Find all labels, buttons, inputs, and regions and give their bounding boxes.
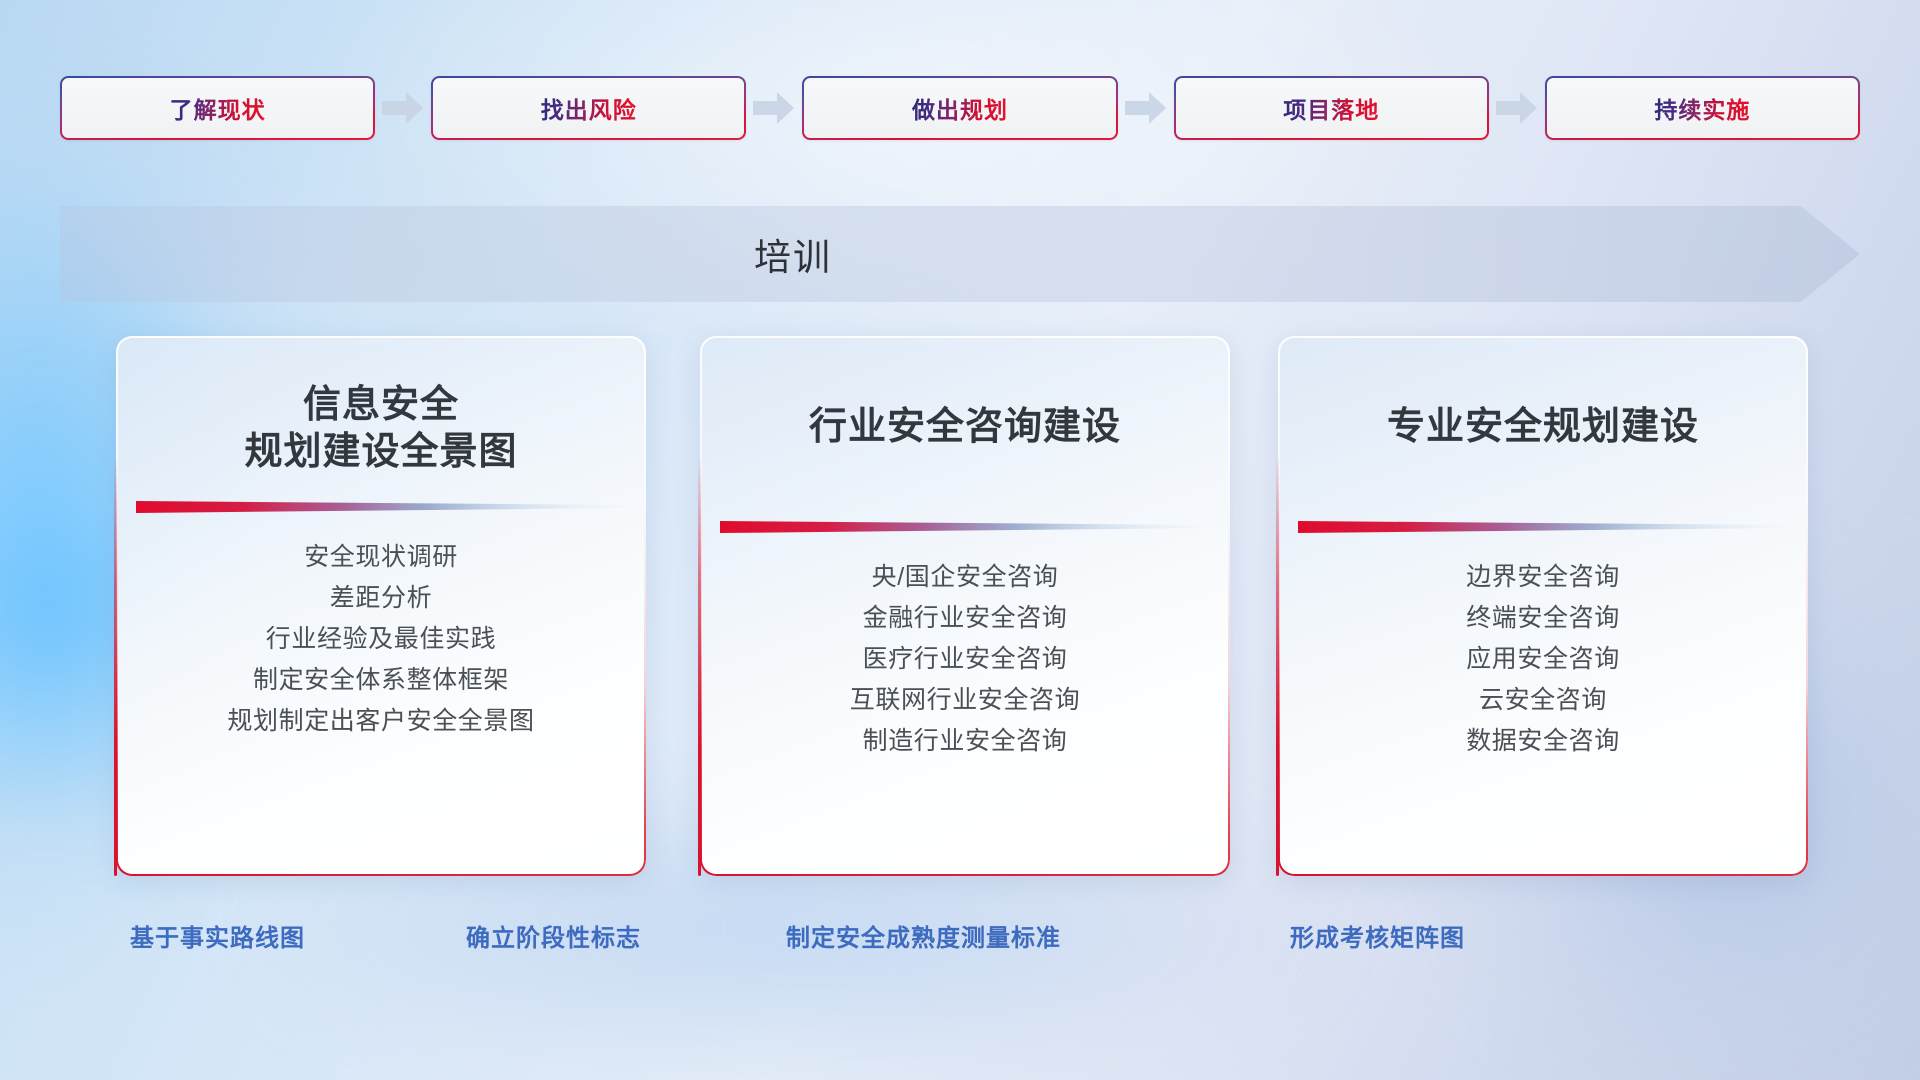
list-item: 终端安全咨询 bbox=[1466, 598, 1620, 639]
card-title: 行业安全咨询建设 bbox=[809, 404, 1121, 451]
footnote-row: 基于事实路线图 确立阶段性标志 制定安全成熟度测量标准 形成考核矩阵图 bbox=[0, 918, 1920, 960]
process-step-label: 找出风险 bbox=[541, 91, 637, 125]
card-content: 专业安全规划建设 bbox=[1278, 336, 1808, 876]
training-banner-label: 培训 bbox=[754, 227, 832, 281]
process-step-label: 了解现状 bbox=[170, 91, 266, 125]
list-item: 央/国企安全咨询 bbox=[872, 557, 1059, 598]
arrow-right-icon bbox=[375, 88, 431, 128]
list-item: 医疗行业安全咨询 bbox=[863, 639, 1068, 680]
process-step-label: 项目落地 bbox=[1283, 91, 1379, 125]
card-item-list: 边界安全咨询 终端安全咨询 应用安全咨询 云安全咨询 数据安全咨询 bbox=[1466, 557, 1620, 762]
footnote-label: 形成考核矩阵图 bbox=[1290, 918, 1465, 960]
list-item: 云安全咨询 bbox=[1479, 680, 1607, 721]
card-divider bbox=[1296, 517, 1790, 535]
process-step-3[interactable]: 项目落地 bbox=[1174, 76, 1489, 140]
footnote-label: 基于事实路线图 bbox=[130, 918, 305, 960]
list-item: 行业经验及最佳实践 bbox=[266, 619, 496, 660]
arrow-right-icon bbox=[746, 88, 802, 128]
process-step-label: 做出规划 bbox=[912, 91, 1008, 125]
list-item: 边界安全咨询 bbox=[1466, 557, 1620, 598]
card-item-list: 安全现状调研 差距分析 行业经验及最佳实践 制定安全体系整体框架 规划制定出客户… bbox=[227, 537, 534, 742]
card-info-security-blueprint[interactable]: 信息安全 规划建设全景图 bbox=[116, 336, 646, 876]
training-banner-label-wrap: 培训 bbox=[0, 206, 1586, 302]
card-title: 信息安全 规划建设全景图 bbox=[244, 382, 517, 475]
list-item: 安全现状调研 bbox=[304, 537, 458, 578]
arrow-right-icon bbox=[1489, 88, 1545, 128]
list-item: 应用安全咨询 bbox=[1466, 639, 1620, 680]
process-step-0[interactable]: 了解现状 bbox=[60, 76, 375, 140]
list-item: 互联网行业安全咨询 bbox=[850, 680, 1080, 721]
process-step-4[interactable]: 持续实施 bbox=[1545, 76, 1860, 140]
card-professional-security-planning[interactable]: 专业安全规划建设 bbox=[1278, 336, 1808, 876]
list-item: 差距分析 bbox=[330, 578, 432, 619]
card-content: 信息安全 规划建设全景图 bbox=[116, 336, 646, 876]
list-item: 金融行业安全咨询 bbox=[863, 598, 1068, 639]
card-divider bbox=[718, 517, 1212, 535]
list-item: 规划制定出客户安全全景图 bbox=[227, 701, 534, 742]
process-step-1[interactable]: 找出风险 bbox=[431, 76, 746, 140]
process-step-label: 持续实施 bbox=[1654, 91, 1750, 125]
list-item: 数据安全咨询 bbox=[1466, 721, 1620, 762]
card-item-list: 央/国企安全咨询 金融行业安全咨询 医疗行业安全咨询 互联网行业安全咨询 制造行… bbox=[850, 557, 1080, 762]
process-flow-strip: 了解现状 找出风险 做出规划 项目落地 持续实施 bbox=[60, 64, 1860, 152]
card-industry-security-consulting[interactable]: 行业安全咨询建设 bbox=[700, 336, 1230, 876]
list-item: 制定安全体系整体框架 bbox=[253, 660, 509, 701]
footnote-label: 确立阶段性标志 bbox=[466, 918, 641, 960]
card-title: 专业安全规划建设 bbox=[1387, 404, 1699, 451]
list-item: 制造行业安全咨询 bbox=[863, 721, 1068, 762]
process-step-2[interactable]: 做出规划 bbox=[802, 76, 1117, 140]
card-content: 行业安全咨询建设 bbox=[700, 336, 1230, 876]
arrow-right-icon bbox=[1118, 88, 1174, 128]
cards-row: 信息安全 规划建设全景图 bbox=[0, 336, 1920, 876]
card-divider bbox=[134, 497, 628, 515]
footnote-label: 制定安全成熟度测量标准 bbox=[786, 918, 1061, 960]
